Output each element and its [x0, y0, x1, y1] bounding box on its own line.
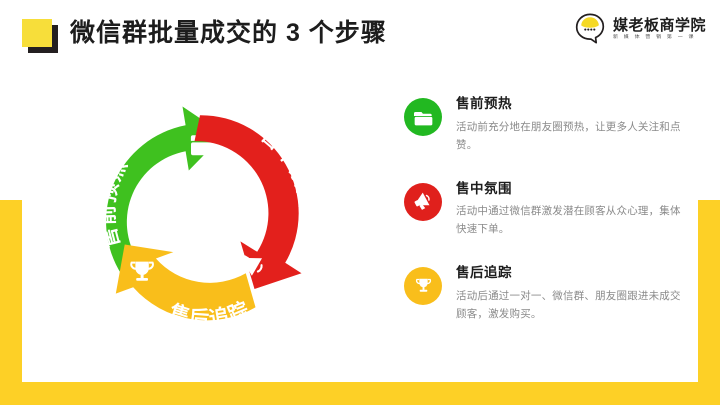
step-item-sale-after: 售后追踪 活动后通过一对一、微信群、朋友圈跟进未成交顾客，激发购买。 [404, 265, 694, 323]
step-desc: 活动中通过微信群激发潜在顾客从众心理，集体快速下单。 [456, 202, 688, 238]
step-item-sale-before: 售前预热 活动前充分地在朋友圈预热，让更多人关注和点赞。 [404, 96, 694, 154]
step-item-sale-during: 售中氛围 活动中通过微信群激发潜在顾客从众心理，集体快速下单。 [404, 181, 694, 239]
brand-name: 媒老板商学院 [613, 18, 706, 33]
frame-accent-bar-left [0, 200, 22, 382]
step-body: 售前预热 活动前充分地在朋友圈预热，让更多人关注和点赞。 [456, 96, 688, 154]
frame-accent-bar-right [698, 200, 720, 382]
megaphone-icon [414, 192, 433, 211]
page-header: 微信群批量成交的 3 个步骤 媒老板商学院 新 媒 体 营 销 第 一 课 [0, 0, 720, 72]
step-body: 售后追踪 活动后通过一对一、微信群、朋友圈跟进未成交顾客，激发购买。 [456, 265, 688, 323]
brand-tagline: 新 媒 体 营 销 第 一 课 [613, 35, 706, 40]
step-badge-folder [404, 98, 442, 136]
frame-accent-bar-bottom [0, 382, 720, 405]
cycle-segment-sale-after: 售后追踪 [116, 245, 256, 331]
cycle-segment-sale-during: 售中氛围 [195, 115, 319, 289]
step-title: 售中氛围 [456, 182, 688, 196]
title-square-marker [22, 19, 58, 53]
brand-logo: 媒老板商学院 新 媒 体 营 销 第 一 课 [573, 12, 706, 46]
steps-list: 售前预热 活动前充分地在朋友圈预热，让更多人关注和点赞。 售中氛围 活动中通过微… [404, 96, 694, 350]
step-title: 售后追踪 [456, 266, 688, 280]
step-desc: 活动后通过一对一、微信群、朋友圈跟进未成交顾客，激发购买。 [456, 287, 688, 323]
folder-icon [414, 108, 433, 127]
step-badge-trophy [404, 267, 442, 305]
page-title: 微信群批量成交的 3 个步骤 [70, 13, 387, 49]
step-title: 售前预热 [456, 97, 688, 111]
cycle-diagram: 售前预热 售中氛围 [72, 78, 342, 348]
trophy-icon [414, 277, 433, 296]
step-badge-megaphone [404, 183, 442, 221]
step-body: 售中氛围 活动中通过微信群激发潜在顾客从众心理，集体快速下单。 [456, 181, 688, 239]
brand-text-group: 媒老板商学院 新 媒 体 营 销 第 一 课 [613, 18, 706, 40]
title-square-plate [22, 19, 52, 47]
brand-face-icon [573, 12, 607, 46]
step-desc: 活动前充分地在朋友圈预热，让更多人关注和点赞。 [456, 118, 688, 154]
